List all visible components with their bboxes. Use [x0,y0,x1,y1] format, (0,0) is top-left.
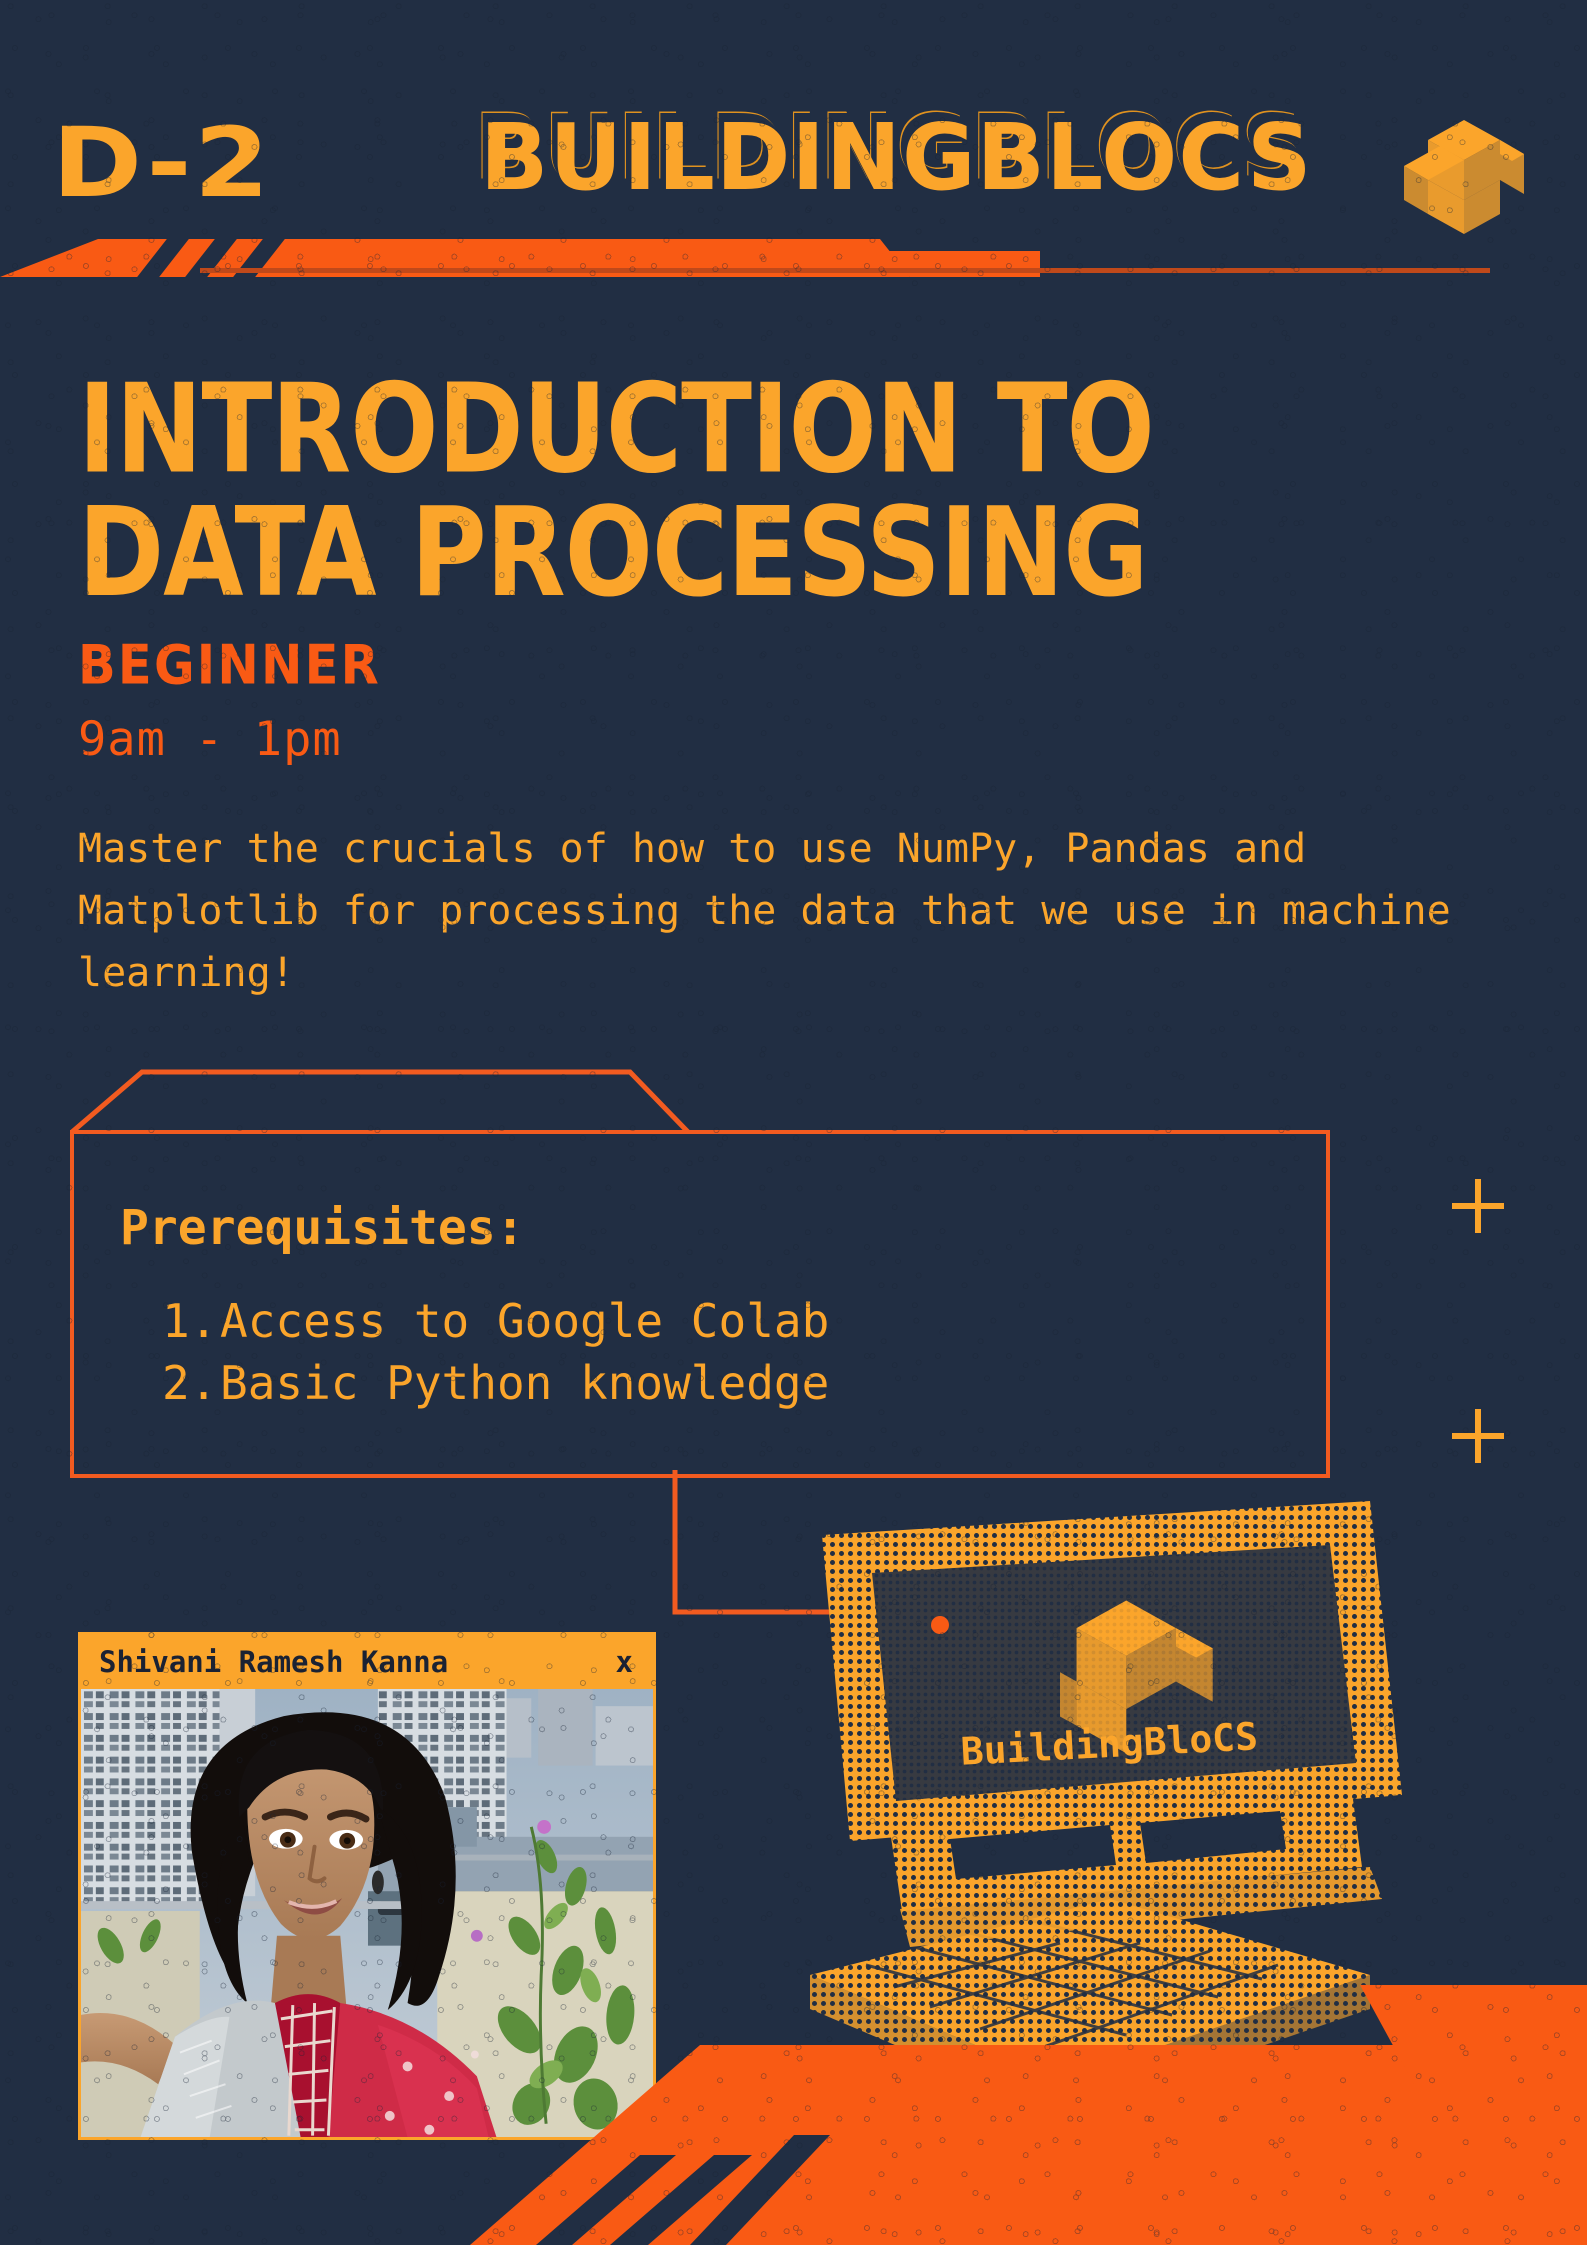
poster-canvas: D-2 BUILDINGBLOCS INTRODUCTION TO DATA P… [0,0,1587,2245]
list-item: 2.Basic Python knowledge [162,1352,829,1414]
list-item-label: Access to Google Colab [220,1294,829,1348]
prerequisites-folder-tab [70,1068,690,1134]
speaker-card: Shivani Ramesh Kanna x [78,1632,656,2140]
cursor-dot [931,1616,949,1634]
session-time: 9am - 1pm [78,712,342,767]
prerequisites-list: 1.Access to Google Colab 2.Basic Python … [162,1290,829,1414]
list-item: 1.Access to Google Colab [162,1290,829,1352]
page-title: INTRODUCTION TO DATA PROCESSING [78,368,1154,615]
building-blocks-cube-icon [1404,112,1524,242]
retro-computer-illustration: BuildingBloCS [810,1495,1587,2245]
list-item-number: 2. [162,1352,220,1414]
list-item-number: 1. [162,1290,220,1352]
speaker-name: Shivani Ramesh Kanna [99,1645,448,1679]
speaker-photo [81,1689,653,2137]
close-icon[interactable]: x [616,1645,633,1679]
list-item-label: Basic Python knowledge [220,1356,829,1410]
prerequisites-heading: Prerequisites: [120,1200,525,1256]
day-badge: D-2 [52,115,272,212]
buildingblocs-wordmark: BUILDINGBLOCS [480,112,1313,204]
header-thin-rule [200,268,1490,273]
title-line-2: DATA PROCESSING [78,491,1154,614]
session-description: Master the crucials of how to use NumPy,… [78,818,1498,1004]
title-line-1: INTRODUCTION TO [78,368,1154,491]
difficulty-level: BEGINNER [78,633,381,697]
speaker-title-bar: Shivani Ramesh Kanna x [81,1635,653,1689]
prerequisites-panel: Prerequisites: 1.Access to Google Colab … [70,1068,1330,1488]
